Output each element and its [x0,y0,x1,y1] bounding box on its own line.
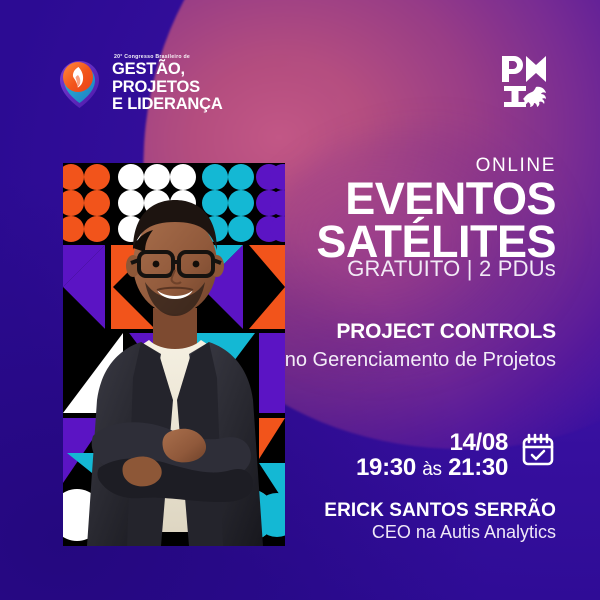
time-connector: às [422,459,441,480]
congress-logo: 20° Congresso Brasileiro de GESTÃO, PROJ… [56,54,223,114]
time-end: 21:30 [448,454,508,481]
hero-subtitle: GRATUITO | 2 PDUs [347,256,556,282]
time-start: 19:30 [356,454,416,481]
talk-subtitle: no Gerenciamento de Projetos [226,347,556,373]
event-poster: 20° Congresso Brasileiro de GESTÃO, PROJ… [0,0,600,600]
hero-title-line1: EVENTOS [345,176,556,221]
congress-logo-text: 20° Congresso Brasileiro de GESTÃO, PROJ… [112,54,223,114]
congress-line1: GESTÃO, [112,61,223,79]
congress-line3: E LIDERANÇA [112,96,223,114]
calendar-check-icon [520,432,556,468]
congress-line2: PROJETOS [112,79,223,97]
event-date: 14/08 [449,430,508,455]
event-time: 19:30 às 21:30 [356,455,508,482]
schedule-block: 14/08 19:30 às 21:30 [356,430,556,482]
congress-kicker: 20° Congresso Brasileiro de [114,54,223,61]
speaker-role: CEO na Autis Analytics [372,522,556,543]
pmi-brasil-logo-icon [496,48,558,110]
talk-title: PROJECT CONTROLS [336,320,556,344]
schedule-texts: 14/08 19:30 às 21:30 [356,430,508,482]
congress-pin-logo-icon [56,55,104,113]
speaker-name: ERICK SANTOS SERRÃO [324,500,556,522]
